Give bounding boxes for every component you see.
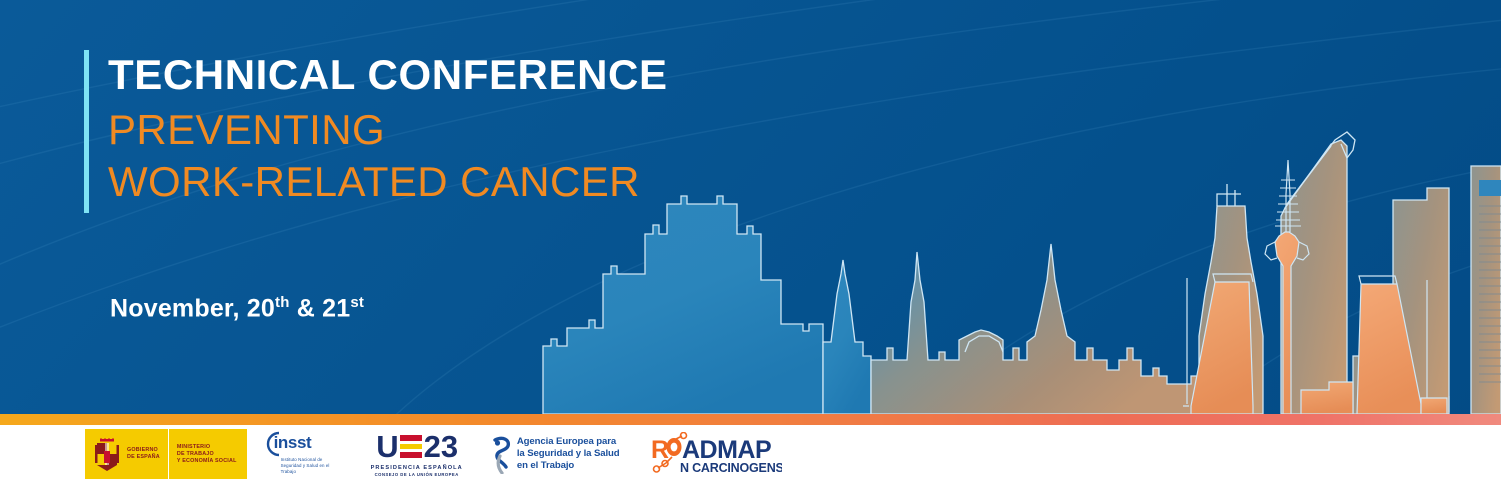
logo-roadmap-on-carcinogens: R ADMAP N CARCINOGENS [650,432,782,476]
date-day-1: 20 [247,294,275,322]
date-month: November, [110,294,247,322]
ue23-sub-line2: CONSEJO DE LA UNIÓN EUROPEA [371,472,463,477]
spain-flag-e-icon [400,435,422,458]
ministerio-line1: MINISTERIO [177,444,237,451]
logo-insst: insst Instituto Nacional de Seguridad y … [257,429,345,479]
spain-coat-of-arms-icon [93,437,121,471]
ue23-char-3: 3 [441,432,457,462]
logo-eu-osha: Agencia Europea para la Seguridad y la S… [491,434,620,474]
logo-gobierno-de-espana: GOBIERNO DE ESPAÑA MINISTERIO DE TRABAJO… [85,429,247,479]
date-separator: & [290,294,323,322]
date-day-1-ordinal: th [275,294,290,311]
event-date: November, 20th & 21st [110,294,364,323]
eu-osha-line3: en el Trabajo [517,460,620,472]
ue23-char-u: U [376,432,397,462]
eu-osha-text: Agencia Europea para la Seguridad y la S… [517,436,620,472]
accent-rule [84,50,89,213]
page-subtitle-line1: PREVENTING [108,104,868,156]
eu-osha-line2: la Seguridad y la Salud [517,448,620,460]
eu-osha-figure-icon [491,434,513,474]
hero-banner: TECHNICAL CONFERENCE PREVENTING WORK-REL… [0,0,1501,414]
ue23-wordmark: U 2 3 [371,432,463,462]
page-subtitle-line2: WORK-RELATED CANCER [108,156,868,208]
date-day-2: 21 [322,294,350,322]
roadmap-word-carcinogens: N CARCINOGENS [680,461,782,475]
eu-osha-line1: Agencia Europea para [517,436,620,448]
orange-divider-bar [0,414,1501,425]
insst-wordmark: insst [274,433,312,453]
madrid-skyline-orange-towers [1171,154,1501,414]
roadmap-word-admap: ADMAP [682,436,771,464]
ministerio-line2: DE TRABAJO [177,451,237,458]
ministerio-text: MINISTERIO DE TRABAJO Y ECONOMÍA SOCIAL [169,444,247,465]
ue23-char-2: 2 [424,432,440,462]
roadmap-letter-r: R [651,436,669,464]
page-title: TECHNICAL CONFERENCE [108,48,868,102]
roadmap-molecule-icon: R ADMAP N CARCINOGENS [650,432,782,476]
ministerio-line3: Y ECONOMÍA SOCIAL [177,458,237,465]
ue23-sub-line1: PRESIDENCIA ESPAÑOLA [371,465,463,471]
gobierno-line1: GOBIERNO [127,447,160,454]
logo-row: GOBIERNO DE ESPAÑA MINISTERIO DE TRABAJO… [85,429,782,479]
logo-ue23: U 2 3 PRESIDENCIA ESPAÑOLA CONSEJO DE LA… [371,432,463,477]
insst-sub-line2: Seguridad y Salud en el Trabajo [281,463,345,475]
headline-block: TECHNICAL CONFERENCE PREVENTING WORK-REL… [108,48,868,208]
insst-subtitle: Instituto Nacional de Seguridad y Salud … [257,457,345,475]
insst-mark: insst [257,433,345,455]
gobierno-text: GOBIERNO DE ESPAÑA [121,447,168,461]
footer-logo-bar: GOBIERNO DE ESPAÑA MINISTERIO DE TRABAJO… [0,425,1501,497]
date-day-2-ordinal: st [350,294,364,311]
gobierno-line2: DE ESPAÑA [127,454,160,461]
